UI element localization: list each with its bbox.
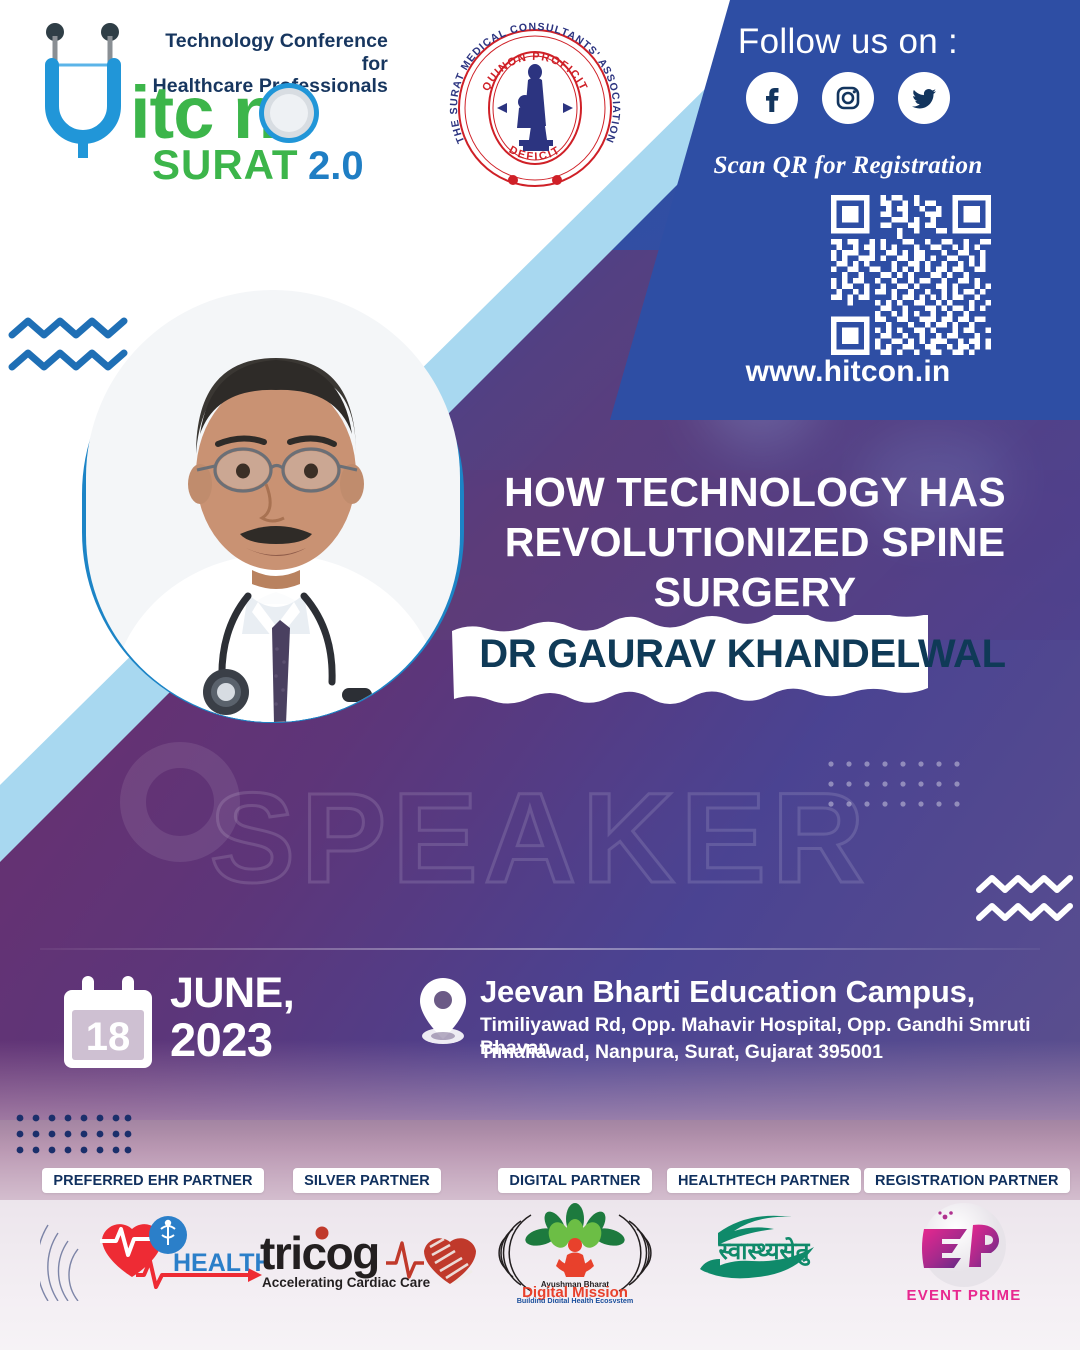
facebook-icon[interactable] [746, 72, 798, 124]
partner-label: PREFERRED EHR PARTNER [42, 1168, 263, 1193]
calendar-icon: 18 [58, 974, 158, 1074]
zigzag-decoration-right [975, 872, 1075, 934]
swasthya-setu-wordmark: स्वास्थ्यसेतु [718, 1237, 811, 1266]
partner-label: SILVER PARTNER [293, 1168, 441, 1193]
logo-tagline-line1: Technology Conference for [165, 30, 388, 75]
event-poster: Technology Conference for Healthcare Pro… [0, 0, 1080, 1350]
event-month: JUNE, [170, 972, 294, 1016]
tricog-logo: tricog Accelerating Cardiac Care [252, 1203, 482, 1303]
twitter-icon[interactable] [898, 72, 950, 124]
swasthya-setu-logo: स्वास्थ्यसेतु [664, 1203, 864, 1303]
calendar-day: 18 [86, 1015, 131, 1059]
hitcon-logo: Technology Conference for Healthcare Pro… [30, 18, 390, 178]
instagram-icon[interactable] [822, 72, 874, 124]
partner-registration: REGISTRATION PARTNER [864, 1168, 1064, 1303]
stethoscope-icon [30, 18, 140, 193]
stethoscope-chestpiece-icon [256, 80, 322, 146]
speaker-name: DR GAURAV KHANDELWAL [450, 632, 1035, 677]
scan-qr-label: Scan QR for Registration [658, 152, 1038, 180]
partners-section: PREFERRED EHR PARTNER H [0, 1168, 1080, 1350]
venue-name: Jeevan Bharti Education Campus, [480, 974, 975, 1010]
partner-label: REGISTRATION PARTNER [864, 1168, 1070, 1193]
healthray-logo: HEALTHRAY [38, 1203, 268, 1303]
partner-digital: DIGITAL PARTNER [466, 1168, 684, 1303]
abdm-tagline: Building Digital Health Ecosystem [517, 1296, 634, 1303]
location-pin-icon [418, 976, 468, 1050]
smca-association-seal: THE SURAT MEDICAL CONSULTANTS' ASSOCIATI… [445, 18, 625, 198]
venue-address-line2: Timaliawad, Nanpura, Surat, Gujarat 3950… [480, 1041, 883, 1064]
partner-label: DIGITAL PARTNER [498, 1168, 651, 1193]
partner-label: HEALTHTECH PARTNER [667, 1168, 861, 1193]
social-links [658, 72, 1038, 124]
event-prime-wordmark: EVENT PRIME [907, 1287, 1022, 1304]
tricog-tagline: Accelerating Cardiac Care [262, 1275, 431, 1290]
partner-silver: SILVER PARTNER tricog Accelerating Cardi… [252, 1168, 482, 1303]
qr-code[interactable] [816, 195, 1006, 355]
partner-healthtech: HEALTHTECH PARTNER स्वास्थ्यसेतु [664, 1168, 864, 1303]
section-divider [40, 948, 1040, 950]
website-url[interactable]: www.hitcon.in [658, 355, 1038, 389]
talk-title: HOW TECHNOLOGY HAS REVOLUTIONIZED SPINE … [470, 467, 1040, 617]
partner-preferred-ehr: PREFERRED EHR PARTNER H [38, 1168, 268, 1303]
ayushman-bharat-digital-mission-logo: Ayushman Bharat Digital Mission Building… [466, 1203, 684, 1303]
speaker-photo [86, 290, 460, 722]
seal-figure-icon [517, 64, 553, 151]
event-prime-logo: EVENT PRIME [864, 1203, 1064, 1303]
logo-version: 2.0 [308, 146, 364, 186]
event-year: 2023 [170, 1016, 273, 1064]
dot-grid-decoration-bottom-left [14, 1112, 134, 1162]
logo-city: SURAT [152, 144, 299, 186]
follow-us-label: Follow us on : [658, 22, 1038, 62]
event-date: 18 JUNE, 2023 [58, 968, 388, 1078]
dot-grid-decoration-mid [825, 758, 965, 814]
